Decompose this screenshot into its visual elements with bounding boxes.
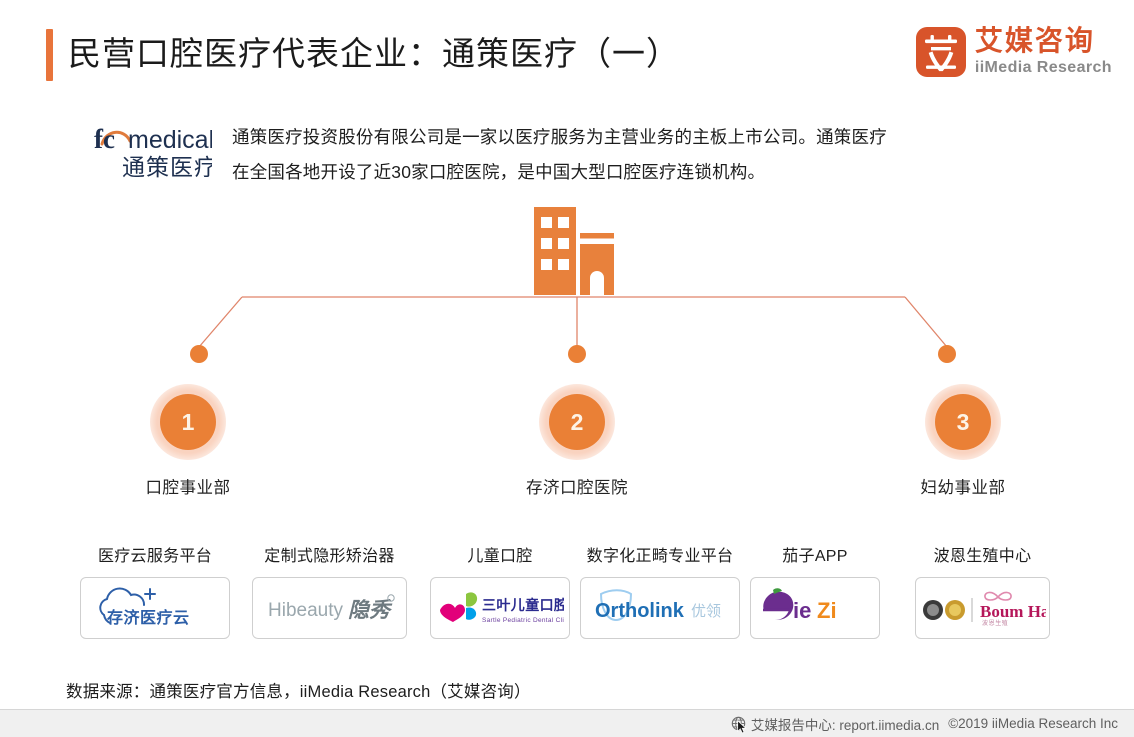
svg-text:Boum Hall: Boum Hall xyxy=(980,602,1046,621)
title-accent-bar xyxy=(46,29,53,81)
brand-card-box-1[interactable]: 存济医疗云 xyxy=(80,577,230,639)
brand-card-title-1: 医疗云服务平台 xyxy=(80,548,230,566)
brand-name-cn: 艾媒咨询 xyxy=(975,26,1112,56)
svg-text:波恩生殖: 波恩生殖 xyxy=(982,619,1008,627)
brand-name-en: iiMedia Research xyxy=(975,58,1112,77)
org-node-label-3: 妇幼事业部 xyxy=(903,474,1023,498)
svg-text:medical: medical xyxy=(128,126,212,154)
node-halo-1: 1 xyxy=(150,384,226,460)
node-halo-3: 3 xyxy=(925,384,1001,460)
brand-card-qiezi[interactable]: 茄子APP ie Zi xyxy=(750,548,880,639)
org-node-label-2: 存济口腔医院 xyxy=(517,474,637,498)
data-source-note: 数据来源：通策医疗官方信息，iiMedia Research（艾媒咨询） xyxy=(66,678,531,702)
company-description-line-2: 在全国各地开设了近30家口腔医院，是中国大型口腔医疗连锁机构。 xyxy=(232,155,1032,190)
node-number-bubble-2: 2 xyxy=(549,394,605,450)
footer-copyright: ©2019 iiMedia Research Inc xyxy=(948,716,1118,731)
org-diagram: 1 口腔事业部 2 存济口腔医院 3 妇幼事业部 xyxy=(0,190,1134,510)
svg-text:Hibeauty: Hibeauty xyxy=(268,600,343,621)
brand-card-box-4[interactable]: Ortholink 优领 xyxy=(580,577,740,639)
brand-card-sartle[interactable]: 儿童口腔 三叶儿童口腔 Sartle Pediatric Dental Clin… xyxy=(430,548,570,639)
svg-text:通策医疗: 通策医疗 xyxy=(122,154,212,180)
brand-card-box-3[interactable]: 三叶儿童口腔 Sartle Pediatric Dental Clinic xyxy=(430,577,570,639)
org-node-2[interactable]: 2 存济口腔医院 xyxy=(517,384,637,498)
ortholink-logo: Ortholink 优领 xyxy=(587,586,733,630)
svg-text:存济医疗云: 存济医疗云 xyxy=(107,608,190,627)
org-node-1[interactable]: 1 口腔事业部 xyxy=(128,384,248,498)
connector-dot-2 xyxy=(568,345,586,363)
company-description-line-1: 通策医疗投资股份有限公司是一家以医疗服务为主营业务的主板上市公司。通策医疗 xyxy=(232,120,1032,155)
svg-text:优领: 优领 xyxy=(691,603,721,620)
brand-card-title-3: 儿童口腔 xyxy=(430,548,570,566)
node-number-bubble-3: 3 xyxy=(935,394,991,450)
brand-card-title-5: 茄子APP xyxy=(750,548,880,566)
svg-text:三叶儿童口腔: 三叶儿童口腔 xyxy=(482,597,564,613)
hibeauty-logo: Hibeauty 隐秀 xyxy=(260,586,400,630)
iimedia-brand-logo: 艾媒咨询 iiMedia Research xyxy=(916,26,1112,77)
svg-text:fc: fc xyxy=(94,124,115,154)
brand-card-title-4: 数字化正畸专业平台 xyxy=(580,548,740,566)
cunji-medical-cloud-logo: 存济医疗云 xyxy=(90,581,220,635)
footer-site-label[interactable]: 艾媒报告中心: report.iimedia.cn xyxy=(751,714,939,734)
brand-card-box-2[interactable]: Hibeauty 隐秀 xyxy=(252,577,407,639)
brand-card-box-6[interactable]: Boum Hall 波恩生殖 xyxy=(915,577,1050,639)
brand-card-box-5[interactable]: ie Zi xyxy=(750,577,880,639)
svg-text:Zi: Zi xyxy=(817,598,837,623)
qiezi-app-logo: ie Zi xyxy=(755,586,875,630)
globe-icon xyxy=(731,716,746,731)
mouse-cursor-icon xyxy=(737,720,748,737)
svg-text:隐秀: 隐秀 xyxy=(348,598,393,622)
slide-header: 民营口腔医疗代表企业：通策医疗（一） 艾媒咨询 iiMedia Researc xyxy=(0,0,1134,100)
tongce-medical-logo: fc medical 通策医疗 xyxy=(84,116,212,182)
page-footer: 艾媒报告中心: report.iimedia.cn ©2019 iiMedia … xyxy=(0,709,1134,737)
sartle-pediatric-dental-logo: 三叶儿童口腔 Sartle Pediatric Dental Clinic xyxy=(436,584,564,632)
brand-card-hibeauty[interactable]: 定制式隐形矫治器 Hibeauty 隐秀 xyxy=(252,548,407,639)
brand-card-title-2: 定制式隐形矫治器 xyxy=(252,548,407,566)
company-description: 通策医疗投资股份有限公司是一家以医疗服务为主营业务的主板上市公司。通策医疗 在全… xyxy=(232,120,1032,190)
svg-text:Sartle Pediatric Dental Clinic: Sartle Pediatric Dental Clinic xyxy=(482,617,564,624)
iimedia-mark-icon xyxy=(916,27,966,77)
svg-text:Ortholink: Ortholink xyxy=(595,600,685,622)
brand-card-boum-hall[interactable]: 波恩生殖中心 Boum Hall 波恩生殖 xyxy=(915,548,1050,639)
connector-dot-3 xyxy=(938,345,956,363)
org-node-label-1: 口腔事业部 xyxy=(128,474,248,498)
brand-card-row: 医疗云服务平台 存济医疗云 定制式隐形矫治器 Hibeauty xyxy=(0,548,1134,663)
org-node-3[interactable]: 3 妇幼事业部 xyxy=(903,384,1023,498)
node-number-bubble-1: 1 xyxy=(160,394,216,450)
brand-card-medical-cloud[interactable]: 医疗云服务平台 存济医疗云 xyxy=(80,548,230,639)
slide: 民营口腔医疗代表企业：通策医疗（一） 艾媒咨询 iiMedia Researc xyxy=(0,0,1134,737)
page-title: 民营口腔医疗代表企业：通策医疗（一） xyxy=(68,28,680,80)
connector-dot-1 xyxy=(190,345,208,363)
svg-text:ie: ie xyxy=(793,598,811,623)
node-halo-2: 2 xyxy=(539,384,615,460)
brand-card-title-6: 波恩生殖中心 xyxy=(915,548,1050,566)
brand-card-ortholink[interactable]: 数字化正畸专业平台 Ortholink 优领 xyxy=(580,548,740,639)
boum-hall-logo: Boum Hall 波恩生殖 xyxy=(920,585,1046,631)
